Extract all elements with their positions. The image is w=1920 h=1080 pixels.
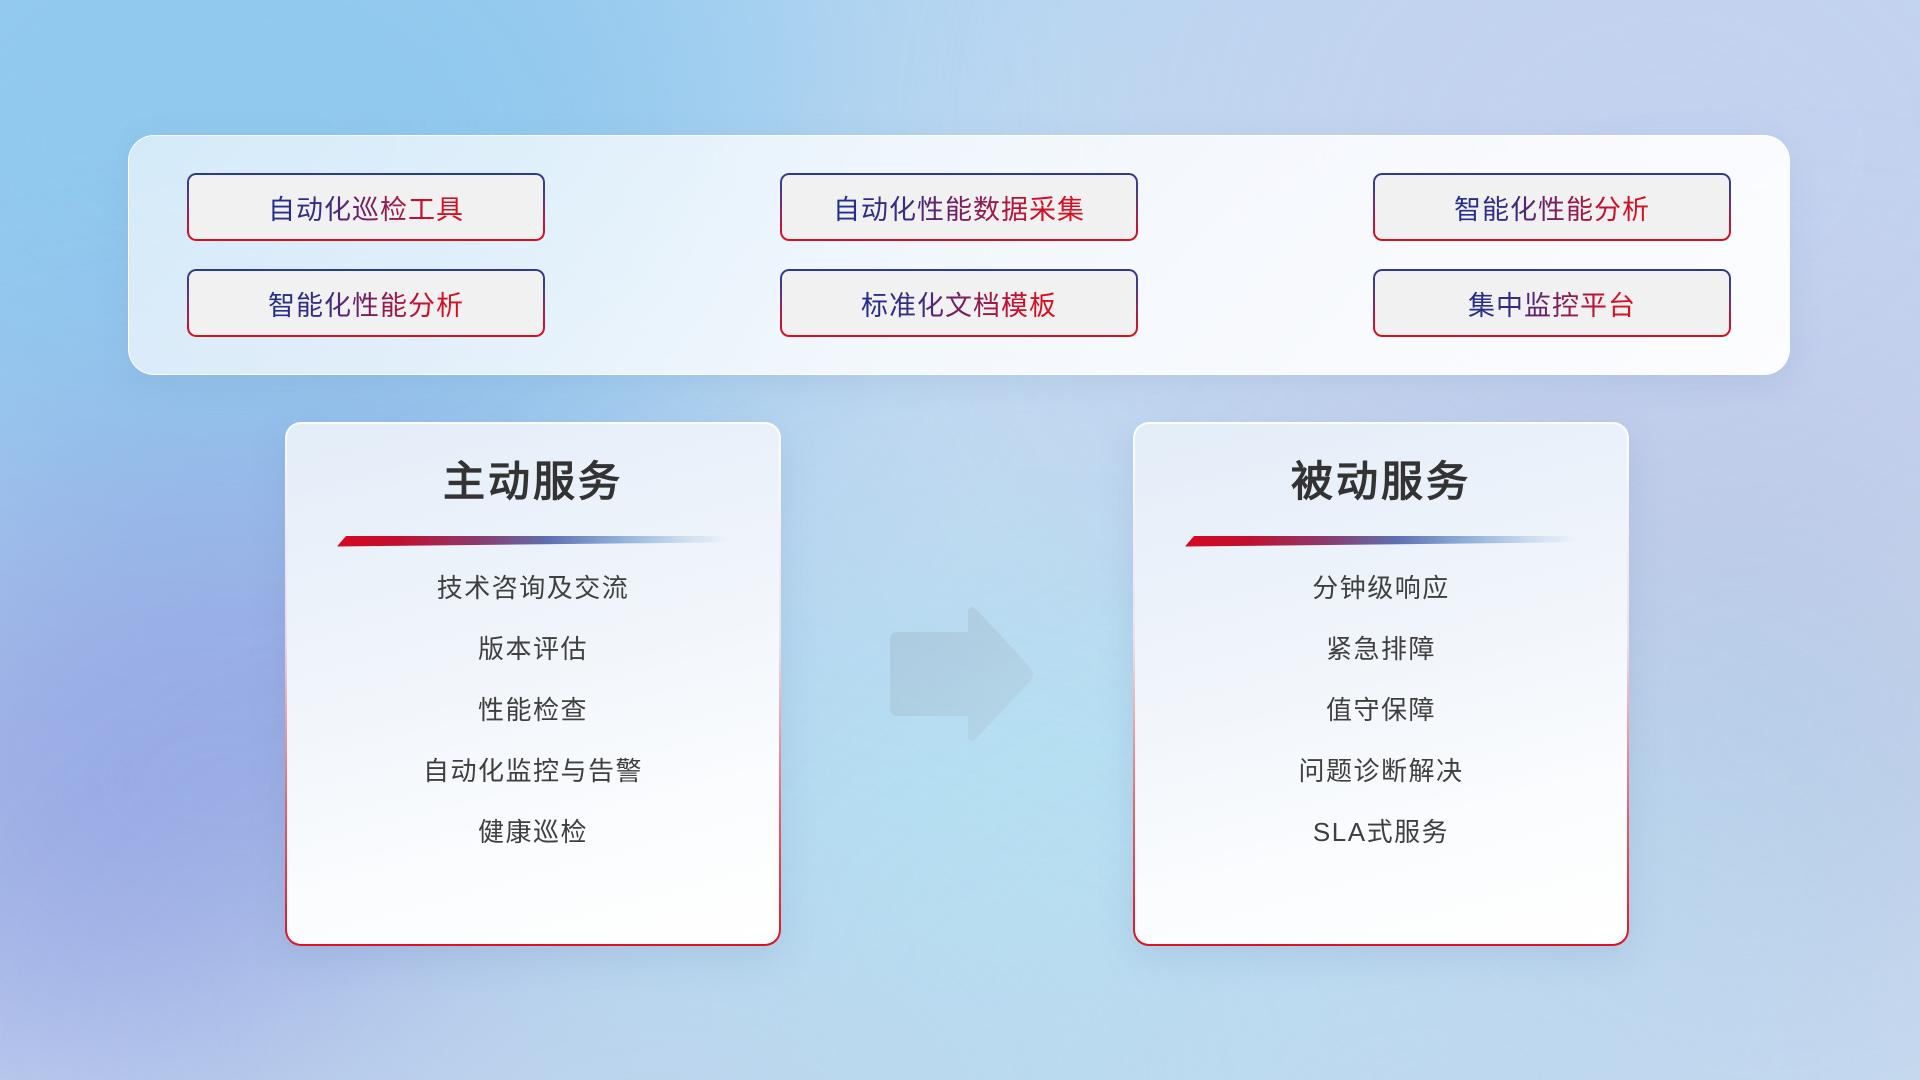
service-card-proactive: 主动服务 技术咨询及交流 版本评估 性能检查 自动化监控与告警 健康巡检 [285, 422, 781, 946]
capability-tag-label: 标准化文档模板 [861, 284, 1057, 323]
capability-row-2: 智能化性能分析 标准化文档模板 集中监控平台 [187, 269, 1731, 337]
service-card-body: 主动服务 技术咨询及交流 版本评估 性能检查 自动化监控与告警 健康巡检 [287, 424, 779, 944]
capability-tag-label: 自动化巡检工具 [268, 188, 464, 227]
service-list-item: SLA式服务 [1313, 817, 1449, 848]
title-divider [1185, 536, 1577, 547]
service-list-item: 健康巡检 [478, 817, 588, 848]
service-list-item: 技术咨询及交流 [437, 573, 630, 604]
service-item-list: 技术咨询及交流 版本评估 性能检查 自动化监控与告警 健康巡检 [313, 573, 753, 849]
title-divider [337, 536, 729, 547]
service-list-item: 版本评估 [478, 634, 588, 665]
service-list-item: 分钟级响应 [1312, 573, 1450, 604]
capability-tag-centralized-monitoring-platform[interactable]: 集中监控平台 [1373, 269, 1731, 337]
capability-tag-intelligent-performance-analysis-b[interactable]: 智能化性能分析 [187, 269, 545, 337]
capability-tag-intelligent-performance-analysis-a[interactable]: 智能化性能分析 [1373, 173, 1731, 241]
service-card-reactive: 被动服务 分钟级响应 紧急排障 值守保障 问题诊断解决 SLA式服务 [1133, 422, 1629, 946]
service-card-title: 被动服务 [1291, 456, 1471, 509]
arrow-right-icon [884, 604, 1036, 744]
capability-tag-label: 智能化性能分析 [268, 284, 464, 323]
service-item-list: 分钟级响应 紧急排障 值守保障 问题诊断解决 SLA式服务 [1161, 573, 1601, 849]
service-list-item: 问题诊断解决 [1298, 756, 1463, 787]
service-list-item: 性能检查 [478, 695, 588, 726]
capability-row-1: 自动化巡检工具 自动化性能数据采集 智能化性能分析 [187, 173, 1731, 241]
capability-tag-label: 集中监控平台 [1468, 284, 1636, 323]
capability-tag-automated-inspection-tool[interactable]: 自动化巡检工具 [187, 173, 545, 241]
capability-tag-standardized-document-template[interactable]: 标准化文档模板 [780, 269, 1138, 337]
capability-tag-automated-performance-data-collection[interactable]: 自动化性能数据采集 [780, 173, 1138, 241]
service-list-item: 自动化监控与告警 [423, 756, 643, 787]
capability-tag-label: 智能化性能分析 [1454, 188, 1650, 227]
capability-panel: 自动化巡检工具 自动化性能数据采集 智能化性能分析 智能化性能分析 标准化文档模… [128, 135, 1790, 375]
service-card-body: 被动服务 分钟级响应 紧急排障 值守保障 问题诊断解决 SLA式服务 [1135, 424, 1627, 944]
service-card-title: 主动服务 [443, 456, 623, 509]
service-list-item: 紧急排障 [1326, 634, 1436, 665]
service-list-item: 值守保障 [1326, 695, 1436, 726]
capability-tag-label: 自动化性能数据采集 [833, 188, 1085, 227]
